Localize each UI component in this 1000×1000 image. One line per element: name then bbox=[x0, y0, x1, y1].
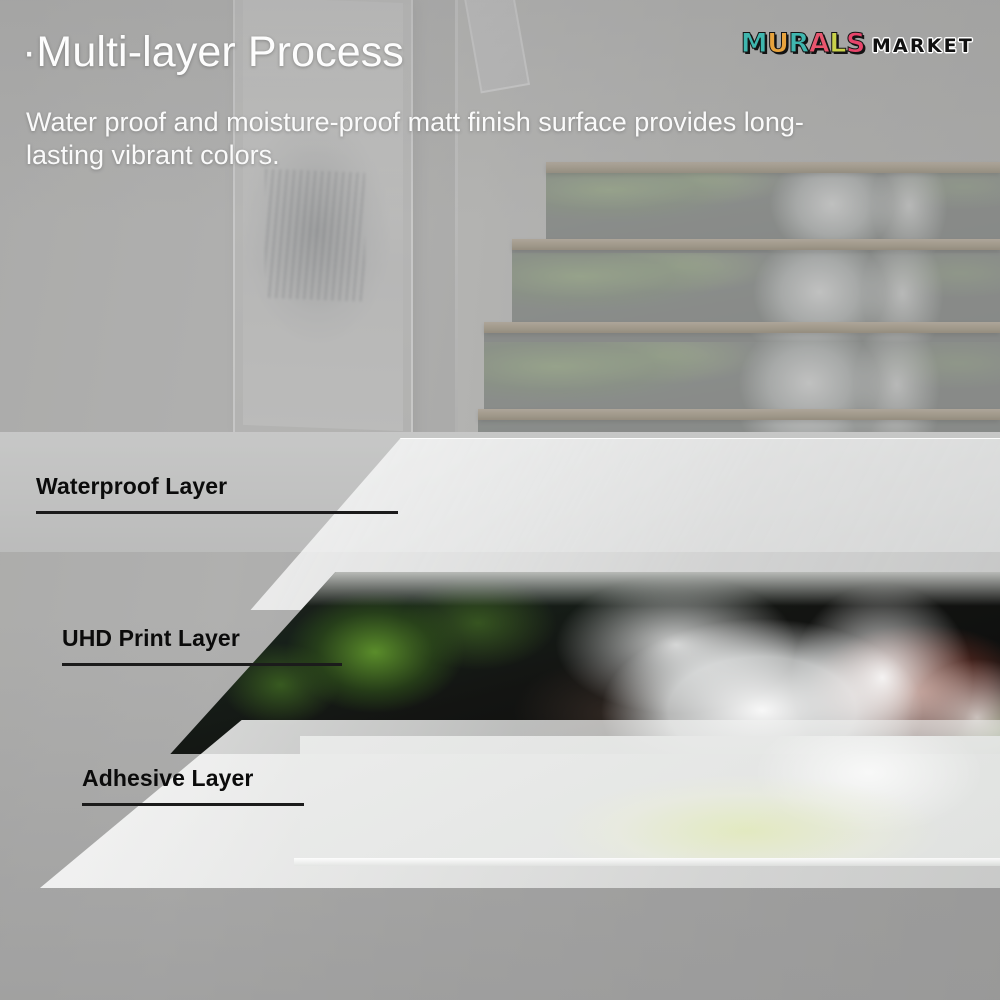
layer-label-text: UHD Print Layer bbox=[62, 625, 342, 652]
layer-leader-line bbox=[82, 803, 304, 806]
layer-label-uhd-print: UHD Print Layer bbox=[62, 625, 342, 666]
adhesive-surface bbox=[300, 736, 1000, 858]
layer-label-adhesive: Adhesive Layer bbox=[82, 765, 304, 806]
layer-leader-line bbox=[62, 663, 342, 666]
layer-label-text: Waterproof Layer bbox=[36, 473, 398, 500]
infographic-canvas: ·Multi-layer Process Water proof and moi… bbox=[0, 0, 1000, 1000]
layer-label-text: Adhesive Layer bbox=[82, 765, 304, 792]
adhesive-edge-strip bbox=[294, 858, 1000, 866]
layer-leader-line bbox=[36, 511, 398, 514]
layer-label-waterproof: Waterproof Layer bbox=[36, 473, 398, 514]
